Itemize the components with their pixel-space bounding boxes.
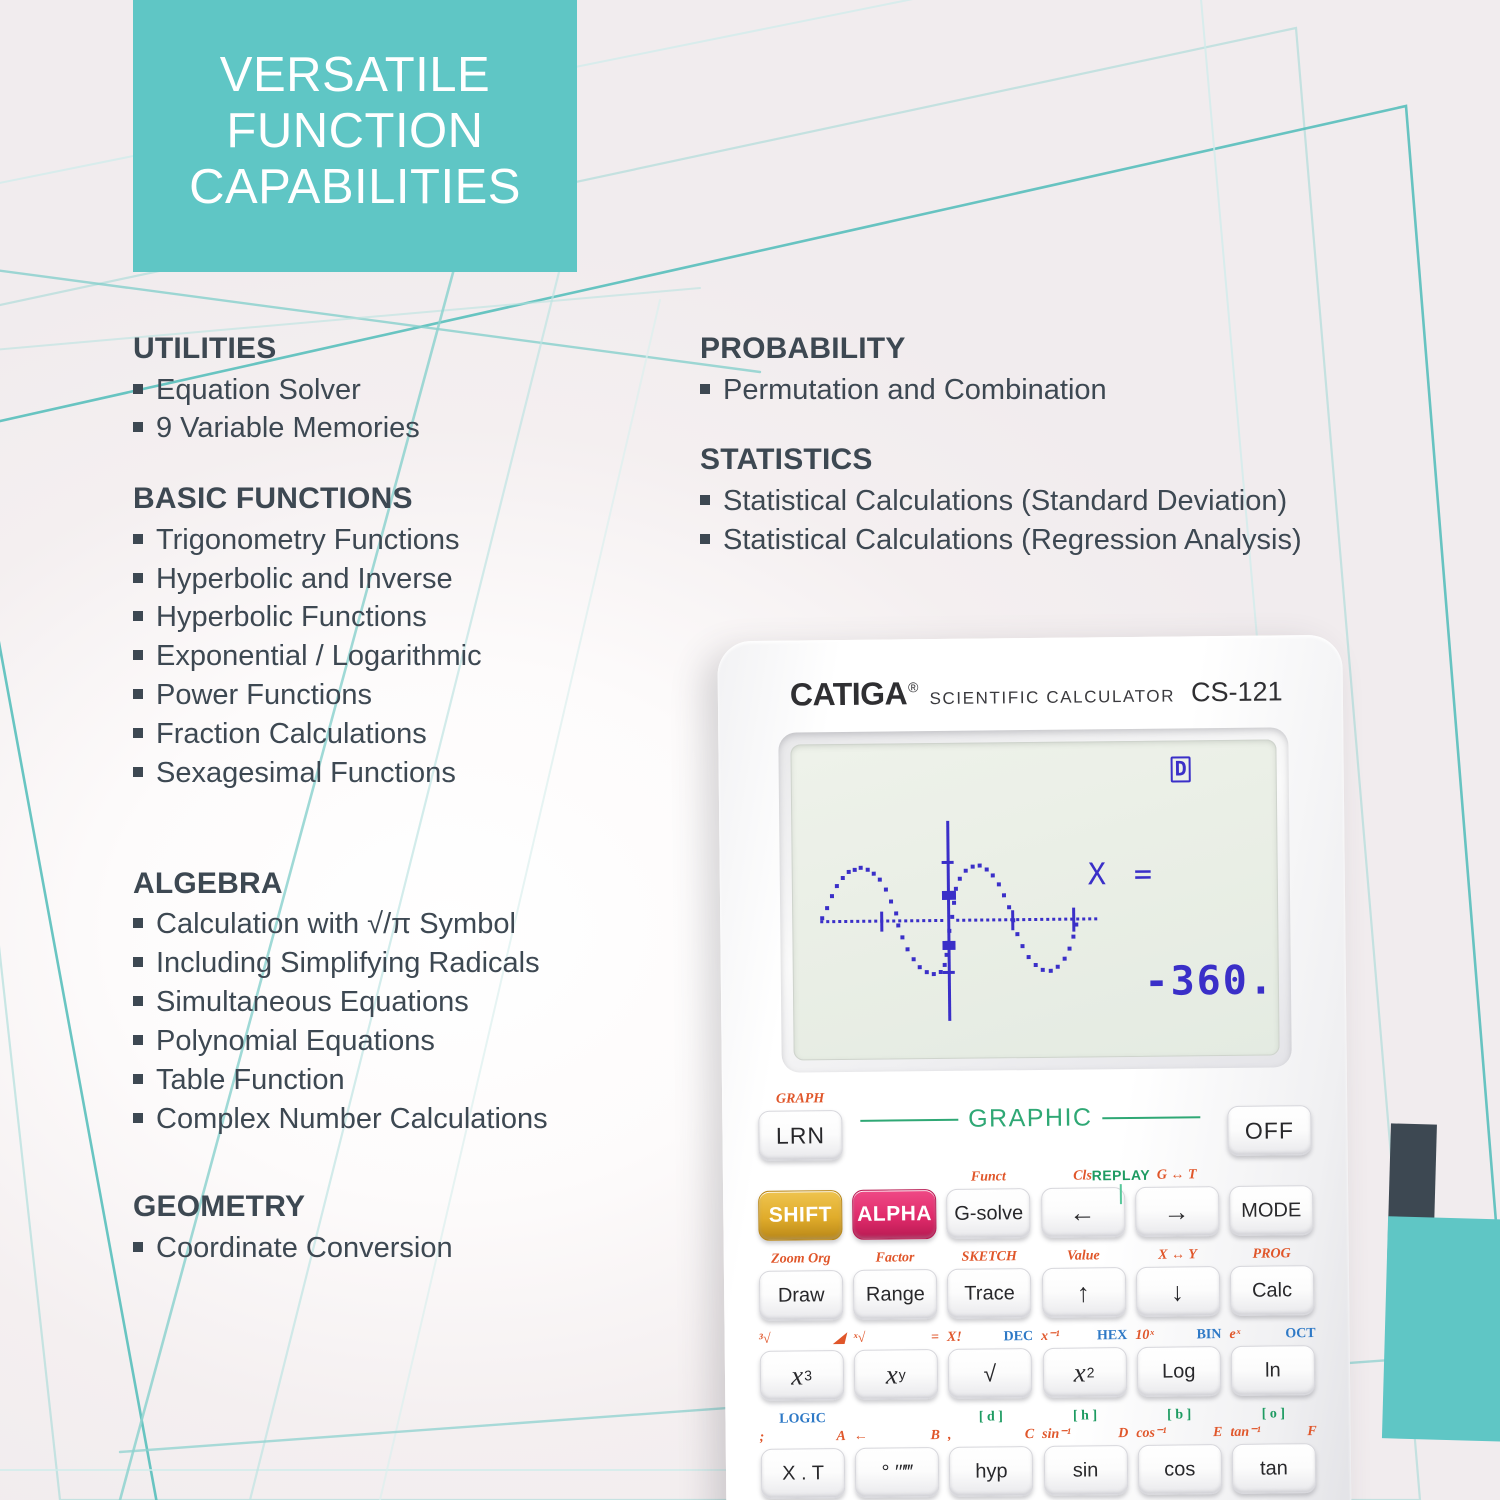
section-heading: GEOMETRY (133, 1190, 693, 1225)
bullet-icon (133, 611, 143, 621)
key-cell-shift: SHIFT (757, 1172, 844, 1241)
bracket-label-o: [ o ] (1262, 1407, 1286, 1425)
bullet-icon (133, 534, 143, 544)
arrow-right-icon: → (1163, 1196, 1190, 1227)
shift-labels: X! DEC (947, 1330, 1033, 1349)
shift-labels: 10ˣ BIN (1135, 1328, 1221, 1347)
down-arrow-key[interactable]: ↓ (1136, 1266, 1221, 1317)
x-base: x (1074, 1357, 1087, 1388)
bullet-icon (133, 767, 143, 777)
shift-label-g-t: G ↔ T (1157, 1168, 1197, 1186)
section-geometry: GEOMETRY Coordinate Conversion (133, 1190, 693, 1267)
list-item-label: Including Simplifying Radicals (156, 944, 540, 983)
list-item: 9 Variable Memories (133, 409, 693, 448)
feature-list: Coordinate Conversion (133, 1229, 693, 1268)
key-cell-down-arrow: X ↔ Y ↓ (1134, 1248, 1221, 1317)
keypad-row-2: SHIFT ALPHA Funct G-solve Cls ← R (723, 1167, 1349, 1242)
key-cell-hyp: [ d ] , C hyp (948, 1410, 1035, 1497)
section-heading: STATISTICS (700, 443, 1470, 478)
off-key[interactable]: OFF (1227, 1105, 1312, 1156)
list-item: Equation Solver (133, 371, 693, 410)
alpha-label-triangle: ◢ (834, 1332, 845, 1350)
list-item: Calculation with √/π Symbol (133, 905, 693, 944)
up-arrow-key[interactable]: ↑ (1041, 1267, 1126, 1318)
alpha-label-e: E (1213, 1426, 1223, 1444)
list-item: Complex Number Calculations (133, 1100, 693, 1139)
shift-label-factor: Factor (876, 1251, 915, 1269)
shift-label-arccos: cos⁻¹ (1136, 1427, 1166, 1445)
list-item-label: Simultaneous Equations (156, 983, 469, 1022)
shift-label-sketch: SKETCH (961, 1250, 1016, 1269)
key-cell-trace: SKETCH Trace (946, 1250, 1033, 1319)
shift-labels: tan⁻¹ F (1230, 1425, 1316, 1444)
key-cell-right-arrow: G ↔ T → (1134, 1168, 1221, 1237)
list-item-label: Statistical Calculations (Regression Ana… (723, 521, 1302, 560)
shift-label-semicolon: ; (760, 1431, 765, 1449)
key-cell-tan: [ o ] tan⁻¹ F tan (1230, 1407, 1317, 1494)
alpha-label-f: F (1307, 1425, 1317, 1443)
list-item-label: Hyperbolic and Inverse (156, 560, 453, 599)
key-cell-log: 10ˣ BIN Log (1135, 1328, 1222, 1397)
section-heading: ALGEBRA (133, 867, 693, 902)
feature-list: Equation Solver 9 Variable Memories (133, 371, 693, 449)
shift-label-graph: GRAPH (776, 1092, 824, 1111)
shift-label-funct: Funct (971, 1170, 1006, 1188)
alpha-label-equals: = (931, 1331, 939, 1349)
keypad: GRAPH LRN GRAPHIC OFF SHIFT (722, 1087, 1351, 1500)
alpha-label-oct: OCT (1285, 1327, 1316, 1345)
lrn-key[interactable]: LRN (758, 1110, 843, 1161)
list-item: Polynomial Equations (133, 1022, 693, 1061)
key-cell-range: Factor Range (852, 1251, 939, 1320)
strip-line-left (860, 1118, 958, 1121)
bullet-icon (133, 650, 143, 660)
right-arrow-key[interactable]: → (1135, 1186, 1220, 1237)
list-item: Fraction Calculations (133, 715, 693, 754)
key-cell-cos: [ b ] cos⁻¹ E cos (1136, 1408, 1223, 1495)
shift-label-comma: , (948, 1429, 952, 1447)
list-item-label: Hyperbolic Functions (156, 598, 427, 637)
list-item-label: Statistical Calculations (Standard Devia… (723, 482, 1287, 521)
square-root-key[interactable]: √ (948, 1348, 1033, 1399)
key-cell-x-cubed: ³√ ◢ x3 (759, 1332, 846, 1401)
list-item: Permutation and Combination (700, 371, 1470, 410)
list-item-label: Permutation and Combination (723, 371, 1107, 410)
sin-key[interactable]: sin (1043, 1445, 1128, 1496)
page-title: VERSATILE FUNCTION CAPABILITIES (189, 48, 521, 216)
bullet-icon (700, 384, 710, 394)
cos-key[interactable]: cos (1138, 1444, 1223, 1495)
list-item: Exponential / Logarithmic (133, 637, 693, 676)
section-heading: PROBABILITY (700, 332, 1470, 367)
section-utilities: UTILITIES Equation Solver 9 Variable Mem… (133, 332, 693, 448)
bracket-label-logic: LOGIC (779, 1412, 826, 1430)
list-item-label: Exponential / Logarithmic (156, 637, 482, 676)
bullet-icon (700, 534, 710, 544)
x-power-y-key[interactable]: xy (854, 1349, 939, 1400)
x-exponent: 3 (804, 1367, 813, 1383)
section-heading: BASIC FUNCTIONS (133, 482, 693, 517)
bullet-icon (133, 996, 143, 1006)
shift-label-reciprocal: x⁻¹ (1041, 1330, 1060, 1348)
bullet-icon (133, 573, 143, 583)
key-cell-x-power-y: ˣ√ = xy (853, 1331, 940, 1400)
keypad-row-5: LOGIC ; A X . T ← B ° ′″‴ [ d ] (725, 1407, 1351, 1500)
key-cell-alpha: ALPHA (851, 1171, 938, 1240)
key-cell-draw: Zoom Org Draw (758, 1252, 845, 1321)
x-cubed-key[interactable]: x3 (760, 1350, 845, 1401)
key-cell-x-squared: x⁻¹ HEX x2 (1041, 1329, 1128, 1398)
list-item-label: Calculation with √/π Symbol (156, 905, 516, 944)
shift-label-x-root: ˣ√ (853, 1332, 866, 1350)
keypad-row-3: Zoom Org Draw Factor Range SKETCH Trace … (724, 1247, 1350, 1322)
alpha-label-c: C (1025, 1428, 1035, 1446)
key-cell-mode: MODE (1228, 1167, 1315, 1236)
list-item: Power Functions (133, 676, 693, 715)
alpha-label-bin: BIN (1196, 1328, 1221, 1346)
section-statistics: STATISTICS Statistical Calculations (Sta… (700, 443, 1470, 559)
title-banner: VERSATILE FUNCTION CAPABILITIES (133, 0, 577, 272)
shift-labels: ; A (760, 1430, 846, 1449)
replay-tick-icon (1120, 1184, 1122, 1204)
bracket-label-d: [ d ] (979, 1410, 1003, 1428)
list-item-label: 9 Variable Memories (156, 409, 420, 448)
shift-labels: x⁻¹ HEX (1041, 1329, 1127, 1348)
calculator-device: CATIGA ® SCIENTIFIC CALCULATOR CS-121 D … (717, 635, 1351, 1500)
bracket-label-h: [ h ] (1073, 1409, 1097, 1427)
degrees-minutes-seconds-key[interactable]: ° ′″‴ (855, 1447, 940, 1498)
feature-list: Permutation and Combination (700, 371, 1470, 410)
key-cell-gsolve: Funct G-solve (945, 1170, 1032, 1239)
brand-subtitle: SCIENTIFIC CALCULATOR (929, 687, 1175, 710)
range-key[interactable]: Range (853, 1269, 938, 1320)
key-cell-lrn: GRAPH LRN (756, 1092, 845, 1161)
bullet-icon (133, 422, 143, 432)
bracket-label-b: [ b ] (1167, 1408, 1191, 1426)
list-item: Hyperbolic Functions (133, 598, 693, 637)
shift-label-arrow-left: ← (854, 1430, 868, 1448)
list-item-label: Fraction Calculations (156, 715, 427, 754)
alpha-label-d: D (1118, 1427, 1128, 1445)
shift-label-value: Value (1067, 1249, 1100, 1267)
key-cell-up-arrow: Value ↑ (1040, 1249, 1127, 1318)
list-item: Trigonometry Functions (133, 521, 693, 560)
key-cell-off: OFF (1225, 1087, 1314, 1156)
shift-labels: , C (948, 1428, 1034, 1447)
bullet-icon (133, 1035, 143, 1045)
tan-key[interactable]: tan (1232, 1443, 1317, 1494)
hyp-key[interactable]: hyp (949, 1446, 1034, 1497)
shift-label-ten-power-x: 10ˣ (1135, 1329, 1154, 1347)
alpha-label-b: B (931, 1429, 941, 1447)
key-cell-ln: eˣ OCT ln (1229, 1327, 1316, 1396)
brand-name: CATIGA (790, 675, 908, 713)
shift-labels: cos⁻¹ E (1136, 1426, 1222, 1445)
key-cell-degrees: ← B ° ′″‴ (854, 1411, 941, 1498)
list-item-label: Polynomial Equations (156, 1022, 435, 1061)
x-exponent: y (899, 1366, 907, 1382)
alpha-key[interactable]: ALPHA (852, 1189, 937, 1240)
model-number: CS-121 (1191, 676, 1283, 708)
list-item: Table Function (133, 1061, 693, 1100)
shift-labels: ← B (854, 1429, 940, 1448)
ln-key[interactable]: ln (1231, 1345, 1316, 1396)
log-key[interactable]: Log (1136, 1346, 1221, 1397)
shift-label-cls: Cls (1073, 1169, 1092, 1187)
list-item: Simultaneous Equations (133, 983, 693, 1022)
x-exponent: 2 (1087, 1364, 1096, 1380)
shift-labels: ³√ ◢ (759, 1332, 845, 1351)
strip-line-right (1103, 1116, 1201, 1119)
calc-key[interactable]: Calc (1230, 1265, 1315, 1316)
keypad-row-1: GRAPH LRN GRAPHIC OFF (722, 1087, 1348, 1162)
alpha-label-hex: HEX (1097, 1329, 1128, 1347)
x-base: x (886, 1359, 899, 1390)
bullet-icon (133, 918, 143, 928)
shift-labels: eˣ OCT (1229, 1327, 1315, 1346)
lcd-display[interactable]: D X = -360. (790, 739, 1279, 1060)
list-item: Including Simplifying Radicals (133, 944, 693, 983)
shift-label-arcsin: sin⁻¹ (1042, 1428, 1071, 1446)
list-item-label: Complex Number Calculations (156, 1100, 548, 1139)
feature-column-right: PROBABILITY Permutation and Combination … (700, 332, 1470, 560)
bullet-icon (133, 1242, 143, 1252)
sine-wave-graph-icon (790, 739, 1279, 1060)
bullet-icon (133, 384, 143, 394)
shift-label-arctan: tan⁻¹ (1230, 1426, 1260, 1444)
shift-label-e-power-x: eˣ (1229, 1328, 1240, 1346)
shift-label-zoom-org: Zoom Org (771, 1252, 831, 1271)
list-item: Sexagesimal Functions (133, 754, 693, 793)
accent-block-teal (1382, 1216, 1500, 1442)
bullet-icon (133, 1074, 143, 1084)
section-algebra: ALGEBRA Calculation with √/π Symbol Incl… (133, 867, 693, 1139)
lcd-bezel: D X = -360. (778, 727, 1292, 1072)
list-item-label: Equation Solver (156, 371, 361, 410)
trace-key[interactable]: Trace (947, 1268, 1032, 1319)
feature-list: Calculation with √/π Symbol Including Si… (133, 905, 693, 1138)
draw-key[interactable]: Draw (759, 1270, 844, 1321)
list-item: Statistical Calculations (Regression Ana… (700, 521, 1470, 560)
list-item-label: Power Functions (156, 676, 372, 715)
x-squared-key[interactable]: x2 (1042, 1347, 1127, 1398)
alpha-label-dec: DEC (1003, 1330, 1033, 1348)
bullet-icon (133, 728, 143, 738)
shift-labels: sin⁻¹ D (1042, 1427, 1128, 1446)
list-item: Hyperbolic and Inverse (133, 560, 693, 599)
arrow-down-icon: ↓ (1171, 1276, 1185, 1307)
key-cell-x-t: LOGIC ; A X . T (759, 1412, 846, 1499)
list-item-label: Coordinate Conversion (156, 1229, 453, 1268)
registered-trademark-icon: ® (908, 679, 918, 695)
infographic-page: VERSATILE FUNCTION CAPABILITIES UTILITIE… (0, 0, 1500, 1500)
brand-bar: CATIGA ® SCIENTIFIC CALCULATOR CS-121 (718, 671, 1343, 715)
mode-key[interactable]: MODE (1229, 1185, 1314, 1236)
key-cell-sqrt: X! DEC √ (947, 1330, 1034, 1399)
key-cell-sin: [ h ] sin⁻¹ D sin (1042, 1409, 1129, 1496)
graphic-strip-label: GRAPHIC (968, 1103, 1093, 1133)
list-item-label: Trigonometry Functions (156, 521, 460, 560)
bullet-icon (133, 689, 143, 699)
shift-label-factorial: X! (947, 1331, 962, 1349)
shift-label-prog: PROG (1253, 1247, 1291, 1265)
section-heading: UTILITIES (133, 332, 693, 367)
shift-label-cube-root: ³√ (759, 1333, 771, 1351)
feature-column-left: UTILITIES Equation Solver 9 Variable Mem… (133, 332, 693, 1268)
keypad-row-4: ³√ ◢ x3 ˣ√ = xy (725, 1327, 1351, 1402)
list-item-label: Table Function (156, 1061, 345, 1100)
section-basic-functions: BASIC FUNCTIONS Trigonometry Functions H… (133, 482, 693, 793)
bullet-icon (700, 495, 710, 505)
list-item-label: Sexagesimal Functions (156, 754, 456, 793)
alpha-label-a: A (836, 1430, 846, 1448)
bullet-icon (133, 957, 143, 967)
g-solve-key[interactable]: G-solve (946, 1188, 1031, 1239)
graphic-strip: GRAPHIC (860, 1102, 1200, 1135)
list-item: Coordinate Conversion (133, 1229, 693, 1268)
x-t-key[interactable]: X . T (761, 1448, 846, 1499)
shift-labels: ˣ√ = (853, 1331, 939, 1350)
key-cell-calc: PROG Calc (1229, 1247, 1316, 1316)
list-item: Statistical Calculations (Standard Devia… (700, 482, 1470, 521)
bullet-icon (133, 1113, 143, 1123)
section-probability: PROBABILITY Permutation and Combination (700, 332, 1470, 409)
shift-label-x-y: X ↔ Y (1158, 1248, 1197, 1266)
x-base: x (791, 1360, 804, 1391)
feature-list: Statistical Calculations (Standard Devia… (700, 482, 1470, 560)
arrow-up-icon: ↑ (1077, 1277, 1091, 1308)
shift-key[interactable]: SHIFT (758, 1190, 843, 1241)
feature-list: Trigonometry Functions Hyperbolic and In… (133, 521, 693, 793)
